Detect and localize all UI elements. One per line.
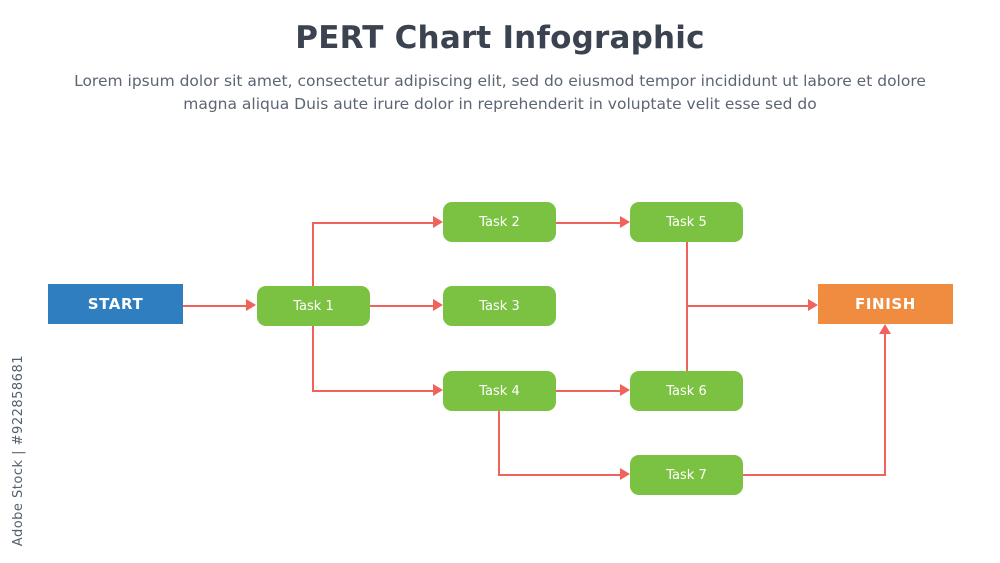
node-task-2[interactable]: Task 2 — [443, 202, 556, 242]
infographic-canvas: PERT Chart Infographic Lorem ipsum dolor… — [0, 0, 1000, 563]
node-start[interactable]: START — [48, 284, 183, 324]
edge-task1-task2 — [312, 222, 435, 224]
arrow-task4-task7 — [620, 468, 630, 480]
edge-task4-task7-vertical — [498, 411, 500, 475]
node-task-6[interactable]: Task 6 — [630, 371, 743, 411]
edge-spine-finish — [686, 305, 810, 307]
node-task-1[interactable]: Task 1 — [257, 286, 370, 326]
node-task-6-label: Task 6 — [666, 384, 706, 399]
edge-task1-task4 — [312, 390, 435, 392]
arrow-spine-finish — [808, 299, 818, 311]
edge-task7-finish-vertical — [884, 334, 886, 474]
page-title: PERT Chart Infographic — [0, 20, 1000, 56]
node-task-1-label: Task 1 — [293, 299, 333, 314]
node-task-7[interactable]: Task 7 — [630, 455, 743, 495]
arrow-task2-task5 — [620, 216, 630, 228]
edge-start-task1 — [183, 305, 247, 307]
arrow-task1-task3 — [433, 299, 443, 311]
edge-task7-finish-horizontal — [743, 474, 886, 476]
node-finish[interactable]: FINISH — [818, 284, 953, 324]
edge-task4-task6 — [556, 390, 622, 392]
arrow-task1-task4 — [433, 384, 443, 396]
arrow-task7-finish — [879, 324, 891, 334]
watermark-label: Adobe Stock | #922858681 — [11, 355, 26, 546]
arrow-task1-task2 — [433, 216, 443, 228]
node-start-label: START — [88, 295, 144, 313]
edge-task5-task6-spine — [686, 242, 688, 372]
node-task-3[interactable]: Task 3 — [443, 286, 556, 326]
node-task-4[interactable]: Task 4 — [443, 371, 556, 411]
node-task-2-label: Task 2 — [479, 215, 519, 230]
node-task-7-label: Task 7 — [666, 468, 706, 483]
arrow-task4-task6 — [620, 384, 630, 396]
page-subtitle: Lorem ipsum dolor sit amet, consectetur … — [50, 70, 950, 116]
edge-task1-task3 — [370, 305, 435, 307]
edge-task2-task5 — [556, 222, 622, 224]
node-task-3-label: Task 3 — [479, 299, 519, 314]
edge-task4-task7-horizontal — [498, 474, 622, 476]
node-task-5-label: Task 5 — [666, 215, 706, 230]
arrow-start-task1 — [246, 299, 256, 311]
node-finish-label: FINISH — [855, 295, 916, 313]
node-task-5[interactable]: Task 5 — [630, 202, 743, 242]
node-task-4-label: Task 4 — [479, 384, 519, 399]
